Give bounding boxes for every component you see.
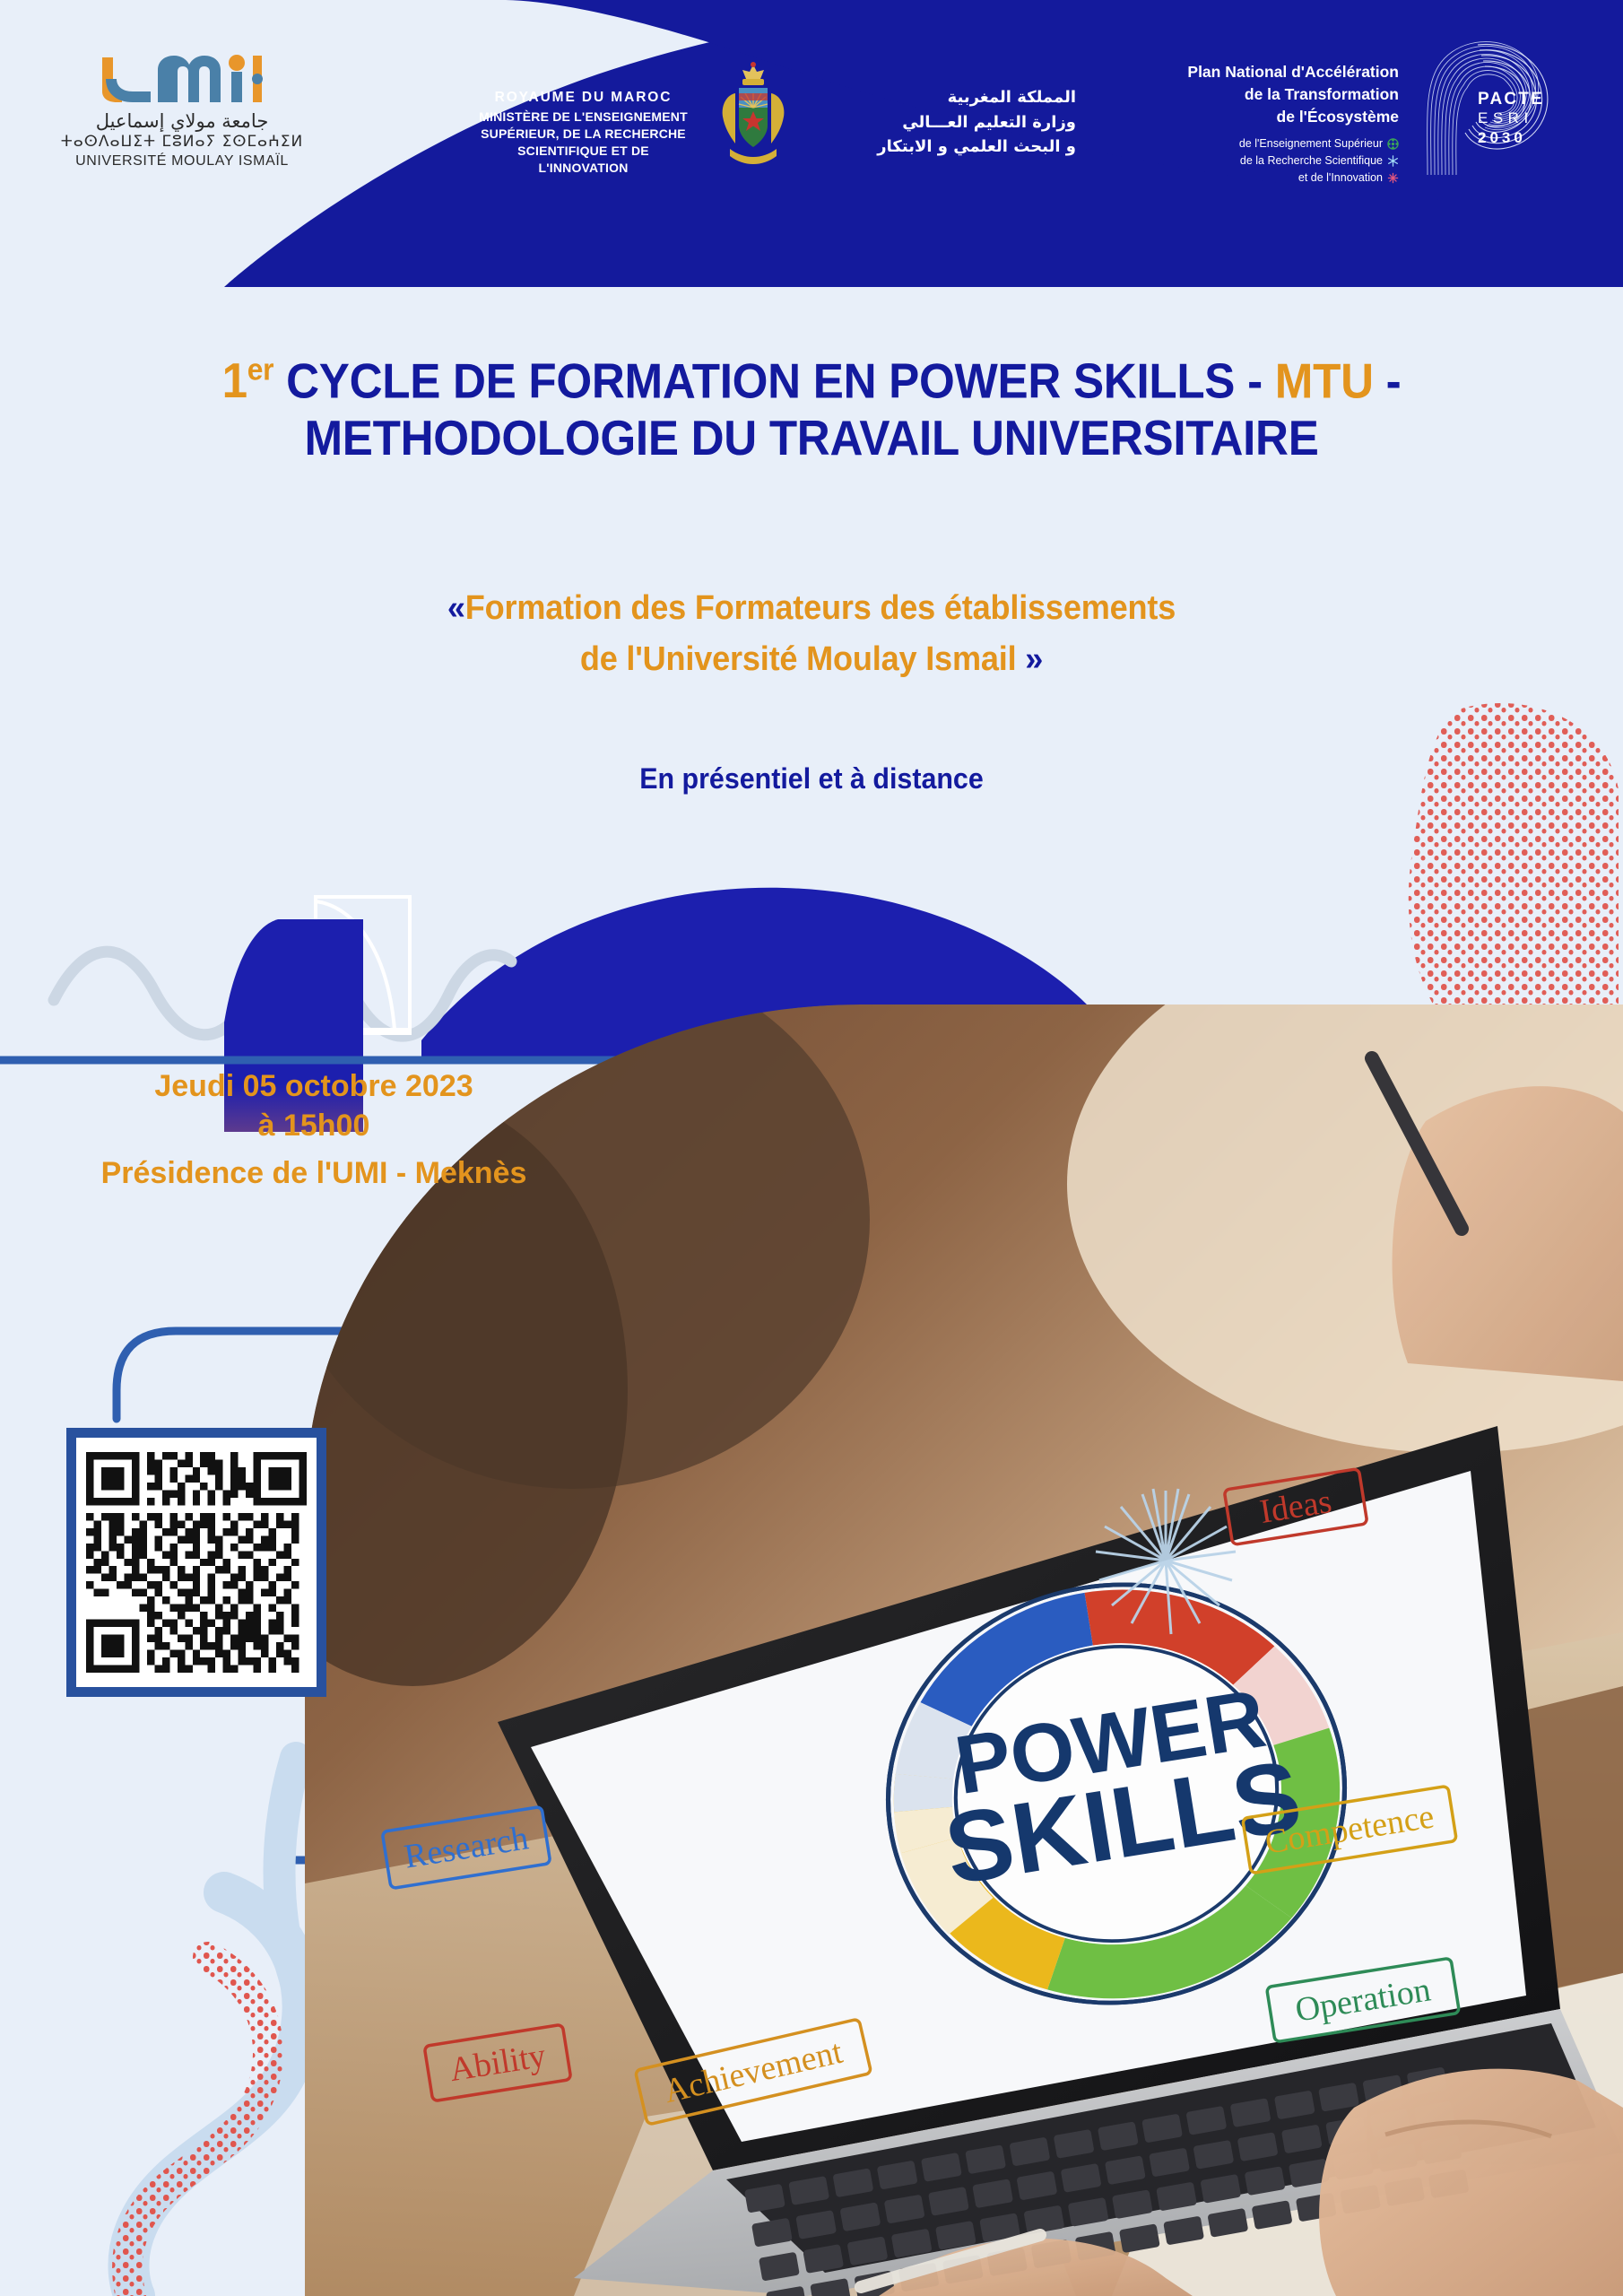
pacte-sub-line3: et de l'Innovation (1298, 170, 1383, 187)
qr-code-image[interactable] (86, 1448, 307, 1677)
title-part1: CYCLE DE FORMATION EN POWER SKILLS (286, 352, 1235, 408)
title-ordinal: 1er (222, 352, 274, 408)
event-details: Jeudi 05 octobre 2023 à 15h00 Présidence… (45, 1067, 583, 1194)
subtitle-line1: Formation des Formateurs des établisseme… (465, 589, 1176, 627)
title-line2: METHODOLOGIE DU TRAVAIL UNIVERSITAIRE (56, 411, 1566, 466)
umi-logo: جامعة مولاي إسماعيل ⵜⴰⵙⴷⴰⵡⵉⵜ ⵎⵓⵍⴰⵢ ⵉⵙⵎⴰⵄ… (52, 52, 312, 170)
morocco-coat-of-arms-icon (708, 61, 798, 169)
subtitle-line2: de l'Université Moulay Ismail (580, 640, 1017, 678)
umi-logo-french: UNIVERSITÉ MOULAY ISMAÏL (52, 152, 312, 170)
event-date: Jeudi 05 octobre 2023 (45, 1067, 583, 1107)
poster-root: POWER SKILLS Research Ideas Comp (0, 0, 1623, 2296)
umi-logo-arabic: جامعة مولاي إسماعيل (52, 111, 312, 132)
pacte-sub-line1: de l'Enseignement Supérieur (1239, 135, 1383, 152)
pacte-title-line3: de l'Écosystème (1103, 106, 1399, 128)
pacte-wordmark: PACTE ESRI 2030 (1478, 90, 1544, 147)
subtitle-open-quote: « (447, 589, 465, 627)
umi-logo-mark (86, 52, 279, 106)
page-title: 1er CYCLE DE FORMATION EN POWER SKILLS -… (0, 354, 1623, 465)
ministry-ar-line2: وزارة التعليم العـــالي (816, 110, 1076, 135)
title-ordinal-suffix: er (247, 353, 273, 387)
pacte-word-esri: ESRI (1478, 109, 1544, 127)
pacte-sub-line2: de la Recherche Scientifique (1240, 152, 1383, 170)
subtitle-close-quote: » (1025, 640, 1043, 678)
event-place: Présidence de l'UMI - Meknès (45, 1154, 583, 1194)
ministry-ar-line1: المملكة المغربية (816, 88, 1076, 107)
pacte-word-2030: 2030 (1478, 128, 1544, 147)
ministry-fr-line1: ROYAUME DU MAROC (473, 90, 693, 106)
umi-logo-tifinagh: ⵜⴰⵙⴷⴰⵡⵉⵜ ⵎⵓⵍⴰⵢ ⵉⵙⵎⴰⵄⵉⵍ (52, 133, 312, 152)
pacte-word-pacte: PACTE (1478, 90, 1544, 109)
event-time: à 15h00 (45, 1107, 583, 1146)
pacte-title-line2: de la Transformation (1103, 83, 1399, 106)
ministry-fr-line3: SUPÉRIEUR, DE LA RECHERCHE (473, 126, 693, 143)
ministry-block-ar: المملكة المغربية وزارة التعليم العـــالي… (816, 88, 1076, 159)
title-dash2: - (1386, 352, 1402, 408)
pacte-title-line1: Plan National d'Accélération (1103, 61, 1399, 83)
laptop-photo: POWER SKILLS Research Ideas Comp (305, 1004, 1623, 2296)
pacte-text-block: Plan National d'Accélération de la Trans… (1103, 61, 1399, 187)
mode-line: En présentiel et à distance (40, 762, 1583, 796)
title-ordinal-number: 1 (222, 352, 247, 408)
ministry-ar-line3: و البحث العلمي و الابتكار (816, 135, 1076, 159)
ministry-fr-line4: SCIENTIFIQUE ET DE L'INNOVATION (473, 143, 693, 177)
ministry-fr-line2: MINISTÈRE DE L'ENSEIGNEMENT (473, 109, 693, 126)
title-abbrev: MTU (1275, 352, 1374, 408)
subtitle-block: «Formation des Formateurs des établissem… (0, 583, 1623, 685)
ministry-block-fr: ROYAUME DU MAROC MINISTÈRE DE L'ENSEIGNE… (473, 90, 693, 177)
title-dash1: - (1247, 352, 1263, 408)
qr-code[interactable] (66, 1428, 326, 1697)
